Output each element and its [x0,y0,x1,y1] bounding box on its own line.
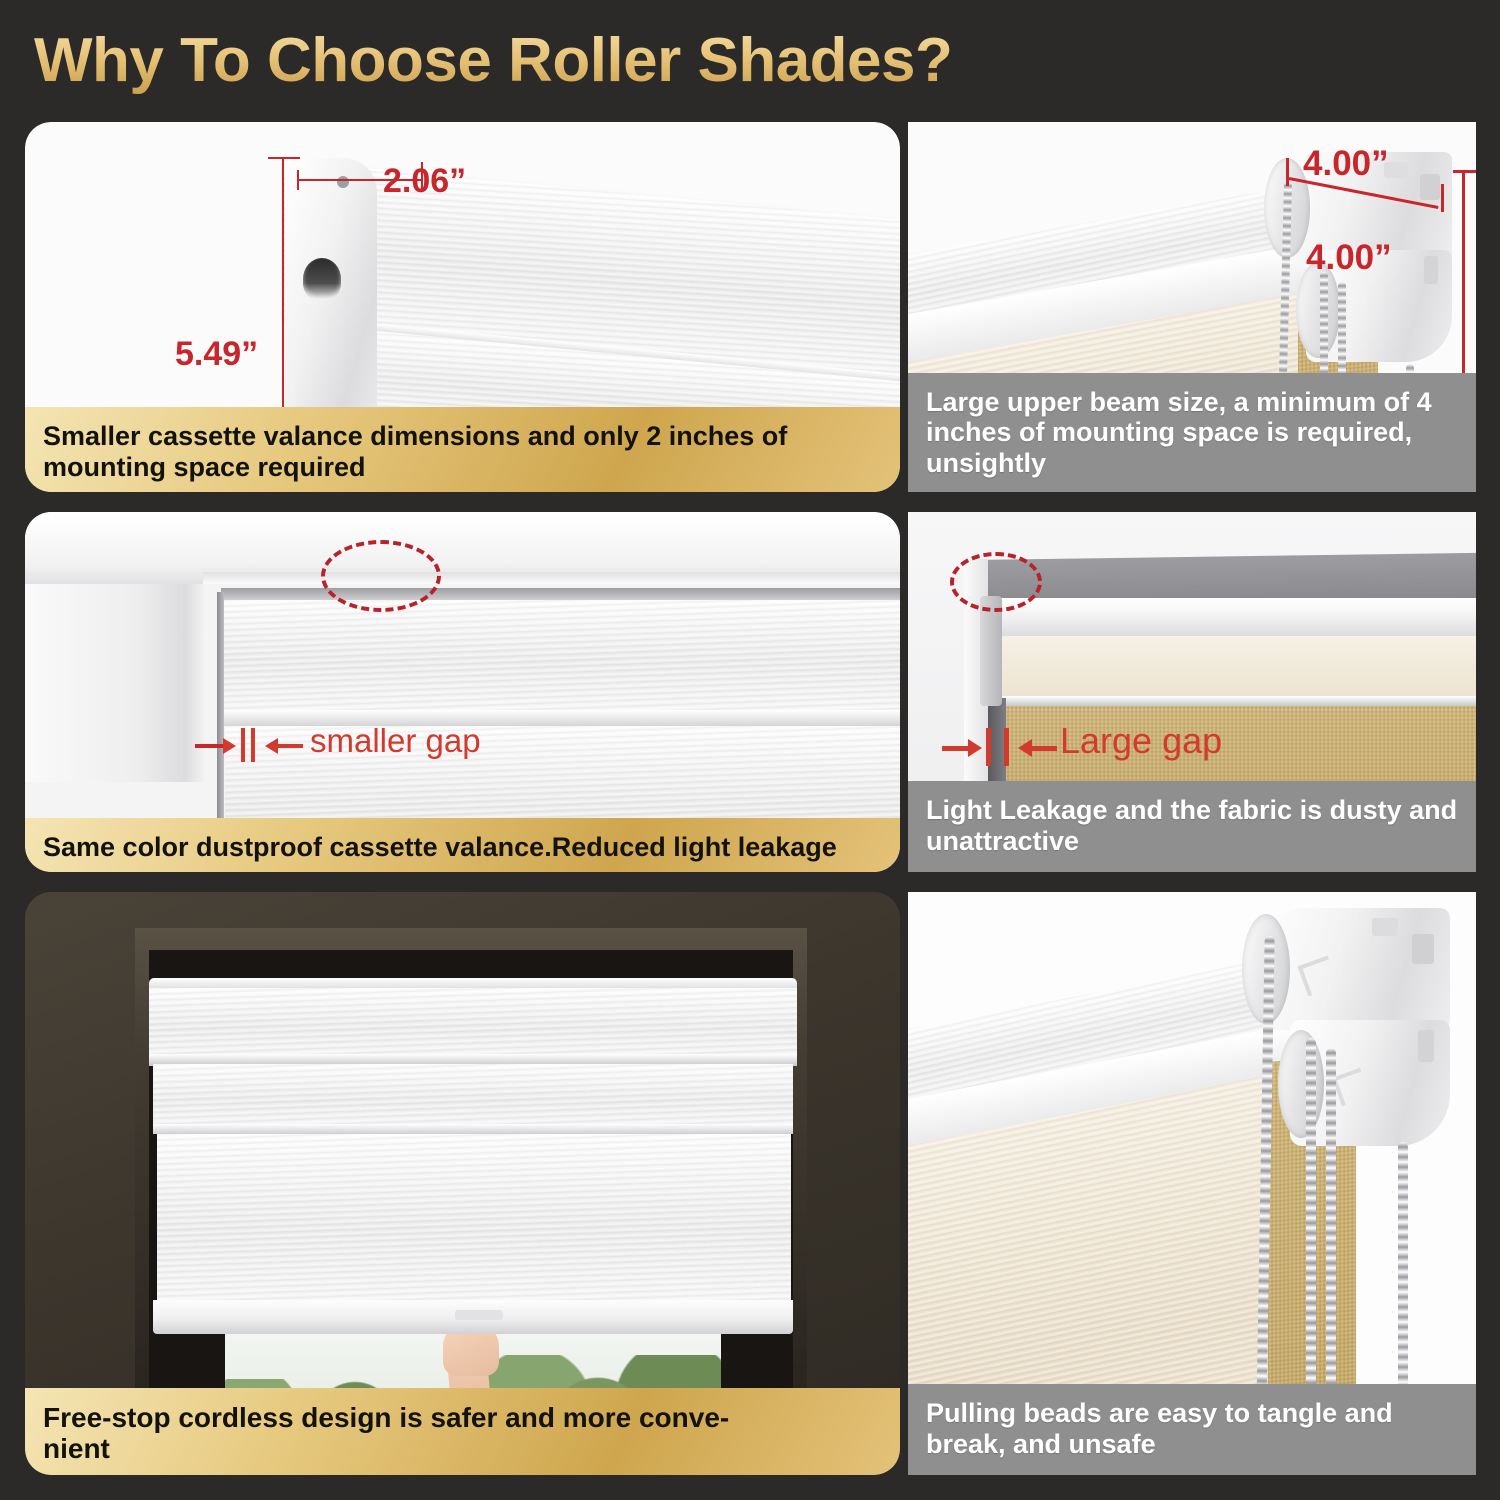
valance-face [221,600,900,712]
gap-arrow-right-shaft [277,744,303,748]
beam-width-tick-right [1441,184,1444,212]
panel-large-upper-beam: 4.00” 4.00” Large upper beam size, a min… [908,122,1476,492]
caption-panel-2: Large upper beam size, a minimum of 4 in… [908,373,1476,493]
bracket-emboss-b [1332,1068,1370,1106]
horizontal-dim-tick-left [297,170,299,190]
height-dimension-label: 5.49” [175,335,258,374]
large-gap-label: Large gap [1060,720,1222,762]
beam-height-label: 4.00” [1306,238,1392,278]
infographic-root: Why To Choose Roller Shades? [0,0,1500,1500]
caption-panel-3: Same color dustproof cassette valance.Re… [25,818,900,873]
roller-end-disc-lower [1278,1030,1324,1138]
width-dimension-label: 2.06” [383,162,466,201]
gap-arrow-right-shaft [1031,746,1057,751]
valance-second-band [153,1064,793,1130]
gap-tick-a [986,728,991,766]
gap-highlight-ellipse [321,540,441,612]
bracket-notch-c [1418,1030,1434,1062]
bracket-notch-a [1412,934,1434,964]
panel-light-leakage: Large gap Light Leakage and the fabric i… [908,512,1476,872]
gap-tick-a [241,728,245,762]
main-shade-fabric [157,1134,791,1306]
bracket-emboss-a [1297,955,1338,996]
valance-band-edge [978,696,1476,706]
caption-panel-4: Light Leakage and the fabric is dusty an… [908,781,1476,872]
casing-bevel [203,572,900,584]
caption-panel-6: Pulling beads are easy to tangle and bre… [908,1384,1476,1475]
gap-arrow-left-shaft [942,746,970,751]
caption-panel-5: Free-stop cordless design is safer and m… [25,1388,900,1475]
valance-band-cream [978,636,1476,700]
bracket-notch-b [1372,918,1398,936]
bottom-rail-tab [455,1310,503,1320]
hand-fingers [443,1334,499,1376]
gap-tick-b [1004,728,1009,766]
beam-width-tick-left [1286,158,1289,186]
bracket-screw-upper [337,176,349,188]
valance-second-edge [153,1124,793,1134]
gap-arrow-left-head [223,738,236,754]
page-title: Why To Choose Roller Shades? [34,22,1134,100]
gap-arrow-right-head [1018,739,1032,757]
beam-width-label: 4.00” [1303,144,1389,184]
smaller-gap-label: smaller gap [310,722,481,760]
panel-cordless-design: Free-stop cordless design is safer and m… [25,892,900,1475]
gap-tick-b [251,728,255,762]
roller-tube-white [972,598,1476,640]
bracket-slot [303,258,341,300]
bracket-notch-a [1420,174,1440,200]
panel-smaller-cassette: 5.49” 2.06” Smaller cassette valance dim… [25,122,900,492]
panel-dustproof-valance: smaller gap Same color dustproof cassett… [25,512,900,872]
gap-arrow-left-shaft [195,744,225,748]
beam-height-dimension-line [1462,170,1465,380]
caption-panel-1: Smaller cassette valance dimensions and … [25,407,900,492]
gap-arrow-left-head [968,739,982,757]
ext-line-top [268,157,300,159]
bracket-notch-c [1424,256,1438,284]
gap-highlight-ellipse [950,552,1042,612]
panel-pulling-beads: Pulling beads are easy to tangle and bre… [908,892,1476,1475]
mount-bracket-detail [980,596,1002,706]
cassette-valance-face [149,988,797,1060]
